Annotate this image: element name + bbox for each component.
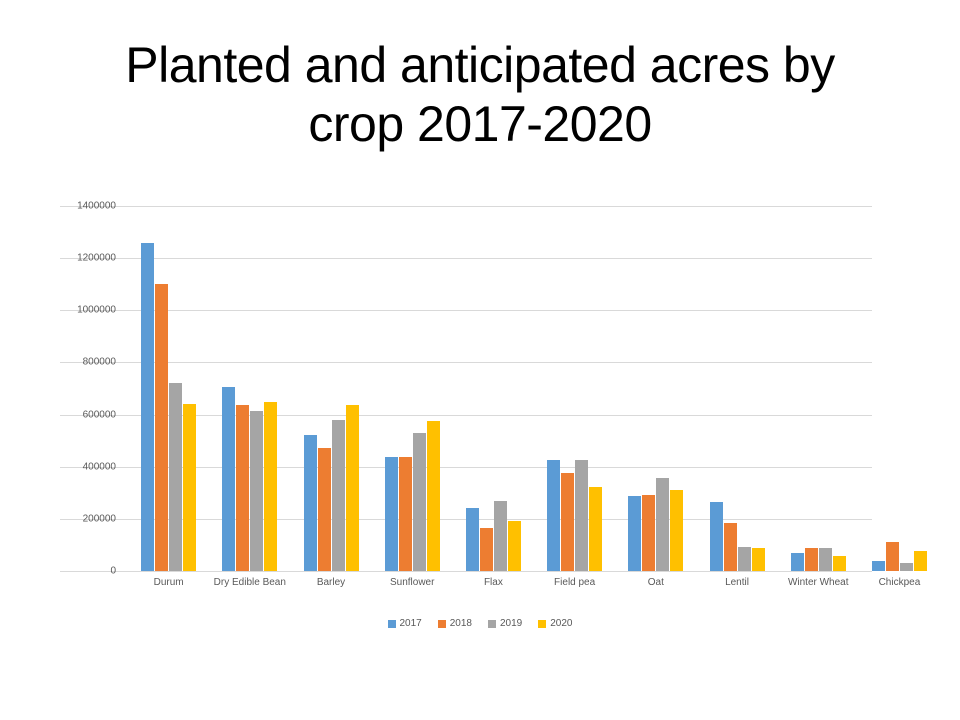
- bar-2018-dry-edible-bean[interactable]: [236, 405, 249, 571]
- legend-item-2019[interactable]: 2019: [488, 618, 522, 629]
- bar-2017-oat[interactable]: [628, 496, 641, 571]
- x-axis-category-label: Flax: [453, 576, 534, 622]
- x-axis-category-label: Sunflower: [372, 576, 453, 622]
- legend-item-2017[interactable]: 2017: [388, 618, 422, 629]
- bar-2019-flax[interactable]: [494, 501, 507, 571]
- x-axis-category-label: Dry Edible Bean: [209, 576, 290, 622]
- legend-swatch-icon: [438, 620, 446, 628]
- bar-2017-barley[interactable]: [304, 435, 317, 571]
- legend-swatch-icon: [488, 620, 496, 628]
- legend-item-2018[interactable]: 2018: [438, 618, 472, 629]
- bar-2018-oat[interactable]: [642, 495, 655, 571]
- y-axis-tick-label: 1400000: [0, 201, 116, 212]
- bar-2019-sunflower[interactable]: [413, 433, 426, 571]
- y-axis-tick-label: 0: [0, 566, 116, 577]
- bar-2020-oat[interactable]: [670, 490, 683, 571]
- x-axis-category-label: Barley: [290, 576, 371, 622]
- bar-2017-dry-edible-bean[interactable]: [222, 387, 235, 571]
- bar-2017-chickpea[interactable]: [872, 561, 885, 571]
- legend-label: 2020: [550, 618, 572, 629]
- y-axis-tick-label: 600000: [0, 409, 116, 420]
- bar-2020-durum[interactable]: [183, 404, 196, 571]
- y-axis-tick-label: 1200000: [0, 253, 116, 264]
- bar-group: [209, 206, 290, 571]
- bar-chart[interactable]: 0200000400000600000800000100000012000001…: [60, 190, 900, 645]
- bar-2018-winter-wheat[interactable]: [805, 548, 818, 571]
- bar-group: [859, 206, 940, 571]
- y-axis-tick-label: 1000000: [0, 305, 116, 316]
- bar-2018-sunflower[interactable]: [399, 457, 412, 571]
- bar-group: [778, 206, 859, 571]
- bar-2019-lentil[interactable]: [738, 547, 751, 571]
- y-axis-tick-label: 200000: [0, 513, 116, 524]
- y-axis-tick-label: 800000: [0, 357, 116, 368]
- plot-area: [128, 206, 940, 571]
- bar-2017-lentil[interactable]: [710, 502, 723, 571]
- bar-2020-winter-wheat[interactable]: [833, 556, 846, 571]
- x-axis-category-label: Chickpea: [859, 576, 940, 622]
- chart-legend[interactable]: 2017201820192020: [60, 618, 900, 629]
- legend-label: 2018: [450, 618, 472, 629]
- x-axis-category-label: Oat: [615, 576, 696, 622]
- bar-2020-flax[interactable]: [508, 521, 521, 571]
- legend-label: 2017: [400, 618, 422, 629]
- bar-2017-winter-wheat[interactable]: [791, 553, 804, 571]
- bar-group: [696, 206, 777, 571]
- bar-2019-oat[interactable]: [656, 478, 669, 571]
- bar-2020-barley[interactable]: [346, 405, 359, 571]
- bar-group: [534, 206, 615, 571]
- legend-label: 2019: [500, 618, 522, 629]
- x-axis-category-label: Durum: [128, 576, 209, 622]
- bar-group: [453, 206, 534, 571]
- bar-group: [372, 206, 453, 571]
- x-axis-labels: DurumDry Edible BeanBarleySunflowerFlaxF…: [128, 576, 940, 622]
- bar-2019-durum[interactable]: [169, 383, 182, 571]
- bar-2017-flax[interactable]: [466, 508, 479, 571]
- gridline: [60, 571, 872, 572]
- bar-2019-winter-wheat[interactable]: [819, 548, 832, 571]
- x-axis-category-label: Lentil: [696, 576, 777, 622]
- legend-swatch-icon: [388, 620, 396, 628]
- y-axis-tick-label: 400000: [0, 461, 116, 472]
- bar-2020-dry-edible-bean[interactable]: [264, 402, 277, 571]
- bar-2020-chickpea[interactable]: [914, 551, 927, 571]
- bar-group: [615, 206, 696, 571]
- bar-2019-barley[interactable]: [332, 420, 345, 571]
- bar-2018-chickpea[interactable]: [886, 542, 899, 571]
- bar-2017-sunflower[interactable]: [385, 457, 398, 571]
- bar-2017-durum[interactable]: [141, 243, 154, 571]
- bar-2019-dry-edible-bean[interactable]: [250, 411, 263, 571]
- bar-2020-lentil[interactable]: [752, 548, 765, 571]
- bar-2018-durum[interactable]: [155, 284, 168, 571]
- bar-2018-field-pea[interactable]: [561, 473, 574, 571]
- bar-group: [290, 206, 371, 571]
- bar-2019-chickpea[interactable]: [900, 563, 913, 571]
- bar-2020-field-pea[interactable]: [589, 487, 602, 571]
- legend-item-2020[interactable]: 2020: [538, 618, 572, 629]
- slide-canvas: Planted and anticipated acres by crop 20…: [0, 0, 960, 720]
- bar-2018-flax[interactable]: [480, 528, 493, 571]
- page-title: Planted and anticipated acres by crop 20…: [60, 36, 900, 154]
- x-axis-category-label: Winter Wheat: [778, 576, 859, 622]
- bar-2018-lentil[interactable]: [724, 523, 737, 571]
- legend-swatch-icon: [538, 620, 546, 628]
- x-axis-category-label: Field pea: [534, 576, 615, 622]
- bar-2019-field-pea[interactable]: [575, 460, 588, 571]
- bar-2018-barley[interactable]: [318, 448, 331, 571]
- y-axis: 0200000400000600000800000100000012000001…: [60, 206, 122, 571]
- bar-2020-sunflower[interactable]: [427, 421, 440, 571]
- bar-2017-field-pea[interactable]: [547, 460, 560, 571]
- bar-group: [128, 206, 209, 571]
